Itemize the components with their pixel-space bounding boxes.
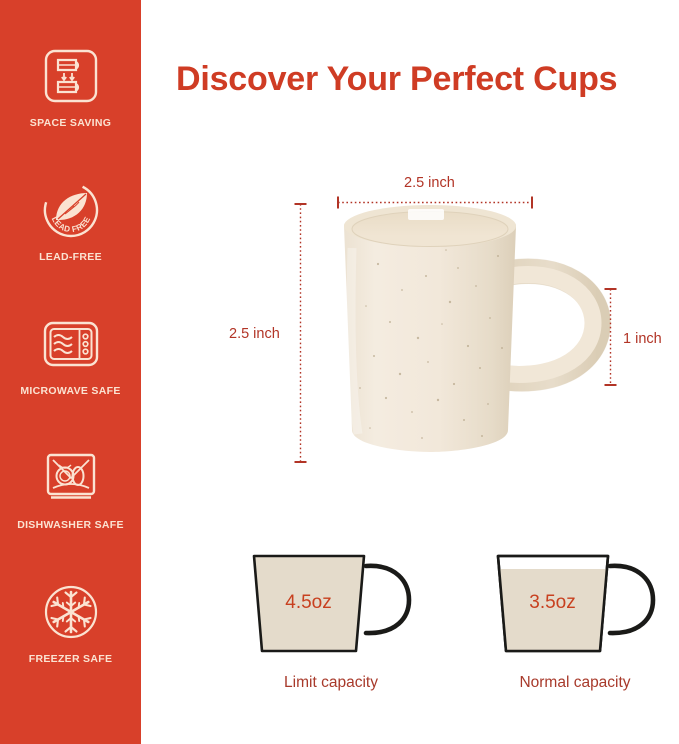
capacity-caption: Limit capacity	[236, 674, 426, 692]
capacity-item-normal: 3.5oz Normal capacity	[480, 548, 679, 708]
dimension-line-width	[337, 196, 533, 209]
feature-label: LEAD-FREE	[39, 251, 102, 263]
product-mug-image	[330, 198, 615, 473]
feature-label: SPACE SAVING	[30, 117, 111, 129]
microwave-icon	[41, 314, 101, 374]
dimension-label-handle: 1 inch	[623, 331, 662, 347]
feature-label: MICROWAVE SAFE	[20, 385, 120, 397]
dimension-label-width: 2.5 inch	[404, 175, 455, 191]
page-title: Discover Your Perfect Cups	[176, 60, 617, 99]
dimension-label-height: 2.5 inch	[229, 326, 280, 342]
feature-microwave-safe: MICROWAVE SAFE	[0, 314, 141, 448]
snowflake-icon	[41, 582, 101, 642]
dimension-line-height	[294, 203, 307, 463]
capacity-item-limit: 4.5oz Limit capacity	[236, 548, 436, 708]
feature-space-saving: SPACE SAVING	[0, 46, 141, 180]
dishwasher-icon	[41, 448, 101, 508]
stacked-cups-icon	[41, 46, 101, 106]
feature-dishwasher-safe: DISHWASHER SAFE	[0, 448, 141, 582]
features-sidebar: SPACE SAVING LEAD FREE LEAD-FREE	[0, 0, 141, 744]
capacity-mug-icon	[490, 548, 670, 658]
feature-freezer-safe: FREEZER SAFE	[0, 582, 141, 716]
capacity-mug-icon	[246, 548, 426, 658]
feature-label: DISHWASHER SAFE	[17, 519, 124, 531]
dimension-line-handle	[604, 288, 617, 386]
leaf-badge-icon: LEAD FREE	[41, 180, 101, 240]
feature-label: FREEZER SAFE	[29, 653, 113, 665]
capacity-caption: Normal capacity	[480, 674, 670, 692]
feature-lead-free: LEAD FREE LEAD-FREE	[0, 180, 141, 314]
